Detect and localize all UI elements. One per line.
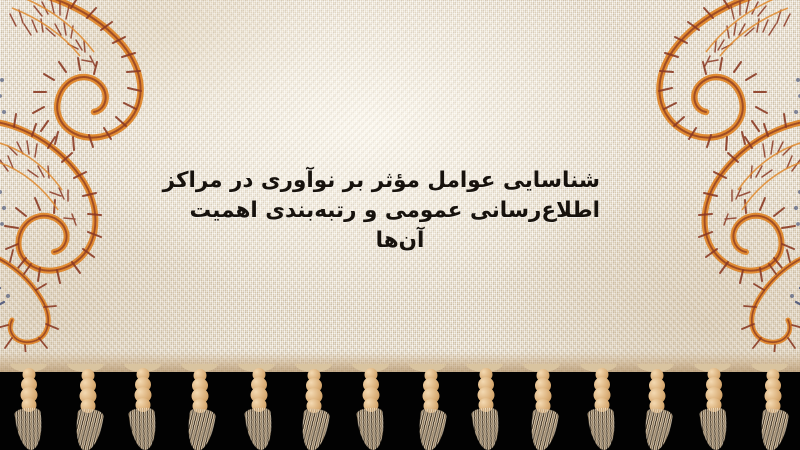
- title-line-3: آن‌ها: [200, 226, 600, 256]
- tassel-brush: [528, 407, 560, 450]
- tassel-brush: [299, 407, 331, 450]
- tassel: [521, 367, 565, 450]
- tassel: [7, 366, 51, 450]
- tassel-brush: [14, 407, 45, 450]
- tassel: [751, 367, 795, 450]
- tassel: [292, 367, 336, 450]
- tassel: [66, 367, 110, 450]
- tassel: [580, 366, 624, 450]
- tassel: [635, 367, 679, 450]
- tassel: [178, 367, 222, 450]
- tassel: [121, 366, 165, 450]
- tassel-brush: [471, 407, 502, 450]
- tassel-brush: [185, 407, 217, 450]
- tassel-brush: [128, 407, 159, 450]
- tassel-brush: [758, 407, 790, 450]
- title-slide: شناسایی عوامل مؤثر بر نوآوری در مراکز اط…: [0, 0, 800, 450]
- tassel-brush: [642, 407, 674, 450]
- tassel: [349, 366, 393, 450]
- title-line-2: اطلاع‌رسانی عمومی و رتبه‌بندی اهمیت: [200, 196, 600, 226]
- tassel: [692, 366, 736, 450]
- tassel-brush: [72, 407, 104, 450]
- title-line-1: شناسایی عوامل مؤثر بر نوآوری در مراکز: [200, 166, 600, 196]
- tassel-brush: [415, 407, 447, 450]
- tassel-brush: [244, 407, 275, 450]
- page-title: شناسایی عوامل مؤثر بر نوآوری در مراکز اط…: [200, 166, 600, 256]
- tassel-brush: [587, 407, 618, 450]
- tassel: [409, 367, 453, 450]
- tassel: [464, 366, 508, 450]
- tassel-brush: [356, 407, 387, 450]
- knotted-tassel-fringe: [0, 366, 800, 450]
- tassel-brush: [699, 407, 730, 450]
- tassel: [237, 366, 281, 450]
